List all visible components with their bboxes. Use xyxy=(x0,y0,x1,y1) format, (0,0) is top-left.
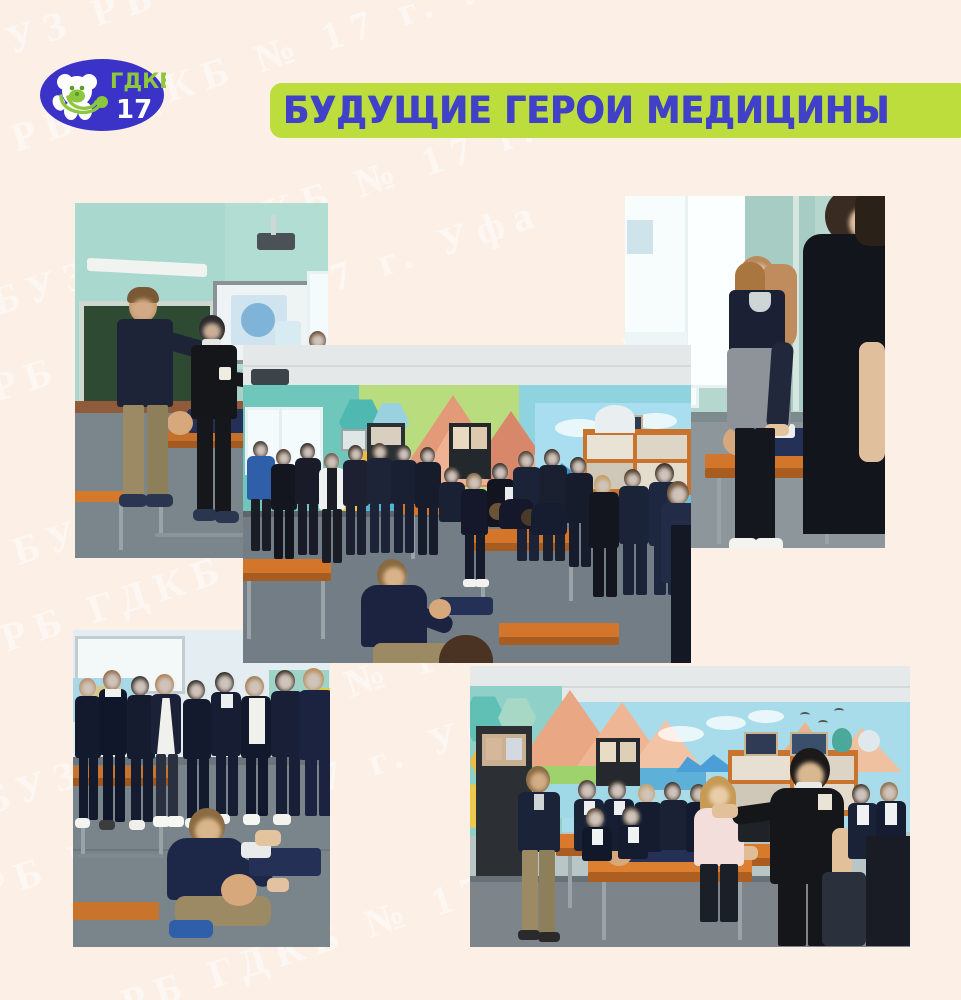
stethoscope-chestpiece-icon xyxy=(96,96,108,108)
page-title: БУДУЩИЕ ГЕРОИ МЕДИЦИНЫ xyxy=(270,92,889,129)
title-banner: БУДУЩИЕ ГЕРОИ МЕДИЦИНЫ xyxy=(270,83,961,138)
logo-text-gdkb: ГДКБ xyxy=(110,69,166,93)
photo-mural-class-manikin xyxy=(470,666,910,947)
gdkb-17-logo: ГДКБ 17 xyxy=(38,56,166,134)
logo-text-17: 17 xyxy=(116,95,152,125)
photo-floor-cpr-training xyxy=(73,630,330,947)
photo-large-class-demonstration xyxy=(243,345,691,663)
poster-root: ГБУЗ РБ ГДКБ № 17 г. Уфа ГБУЗ РБ ГДКБ № … xyxy=(0,0,961,1000)
